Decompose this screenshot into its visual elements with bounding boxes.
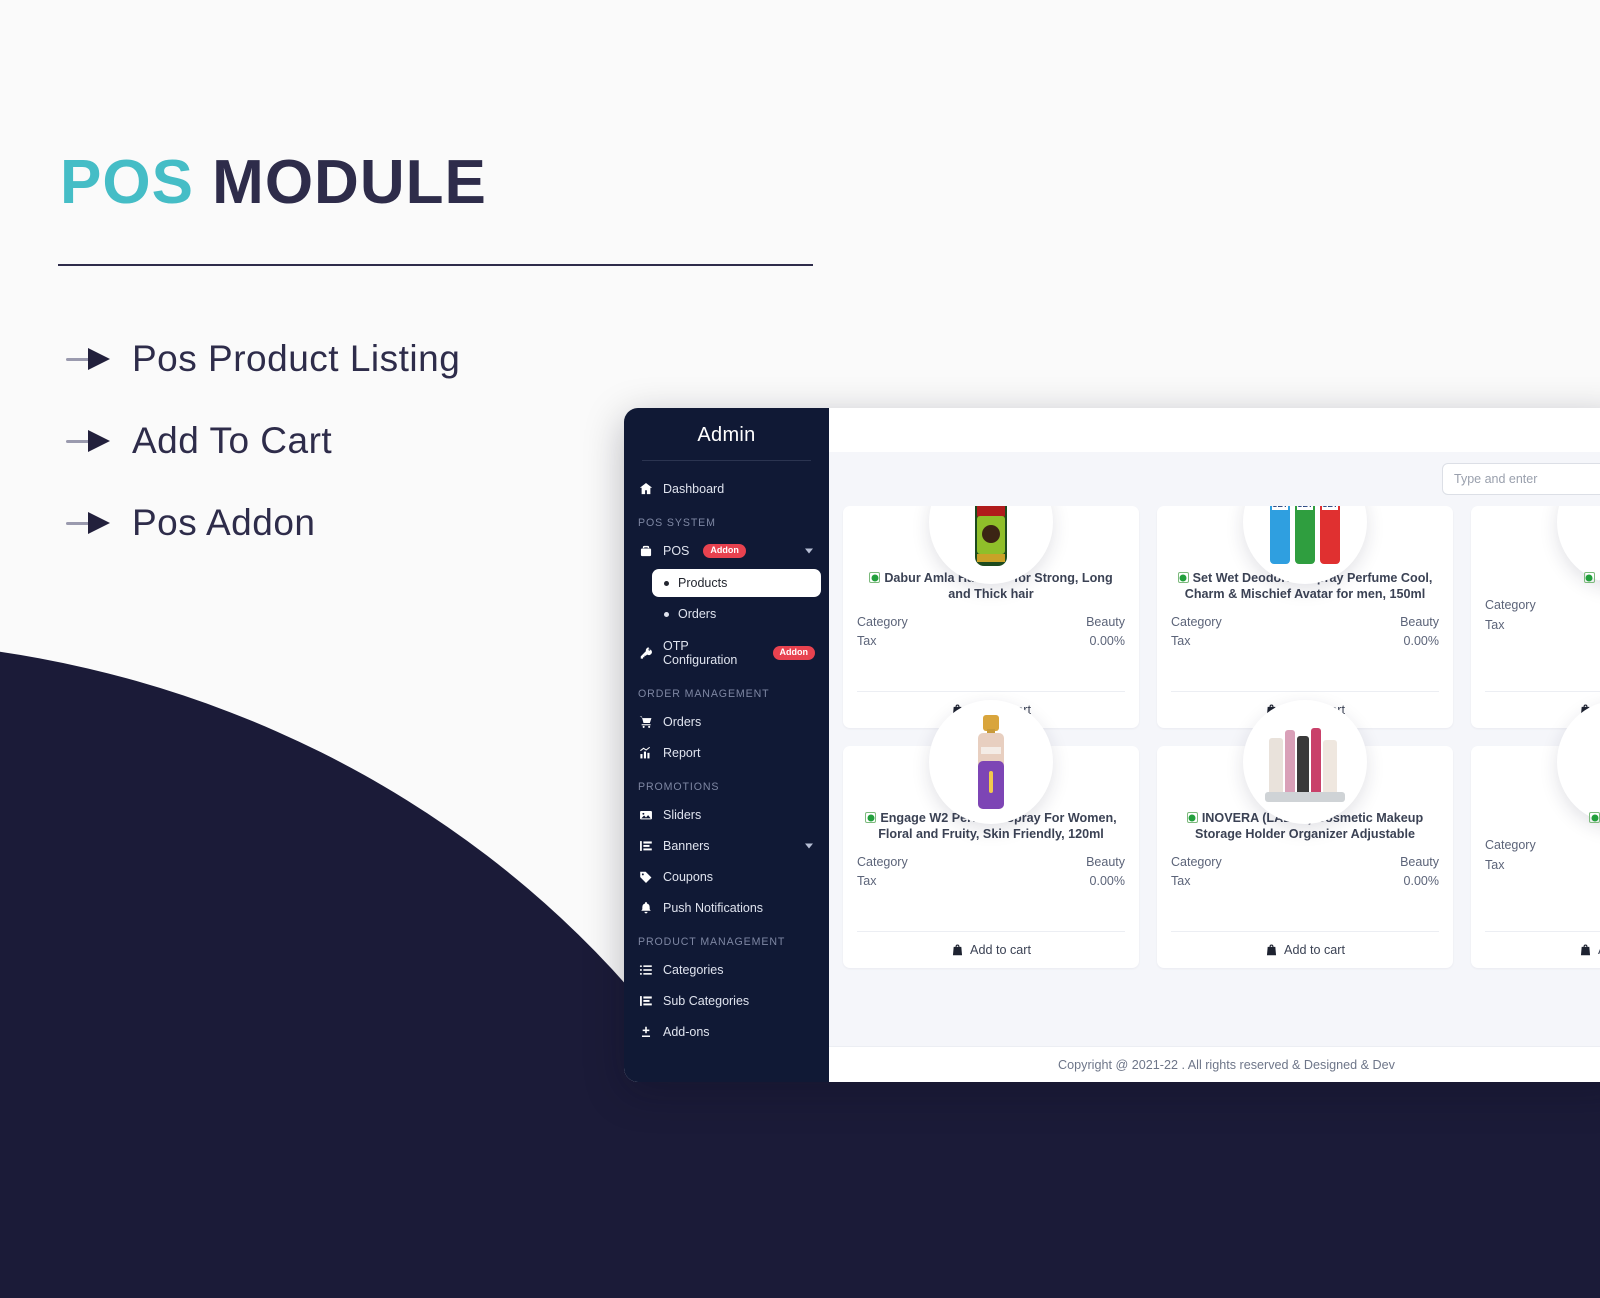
chevron-down-icon[interactable] <box>805 548 813 553</box>
bullet-dot-icon <box>664 612 669 617</box>
sidebar-item-label: OTP Configuration <box>663 639 759 667</box>
feature-label: Add To Cart <box>132 420 332 462</box>
tax-label: Tax <box>1171 872 1190 891</box>
product-category-row: Category Beauty <box>857 613 1125 632</box>
svg-text:SET: SET <box>1272 506 1288 509</box>
product-card[interactable]: Secret Te Category Tax Add to cart <box>1471 506 1600 728</box>
sidebar-item-label: Sub Categories <box>663 994 749 1008</box>
home-icon <box>638 482 654 496</box>
sidebar-item-categories[interactable]: Categories <box>624 954 829 985</box>
bell-icon <box>638 901 654 915</box>
plus-minus-icon <box>638 1025 654 1039</box>
category-value: Beauty <box>1086 853 1125 872</box>
tax-label: Tax <box>1485 616 1504 635</box>
app-window: Admin Dashboard POS SYSTEM POS Addon <box>624 408 1600 1082</box>
sidebar-item-dashboard[interactable]: Dashboard <box>624 473 829 504</box>
product-thumbnail <box>1243 700 1367 824</box>
sidebar-section-title: ORDER MANAGEMENT <box>624 675 829 706</box>
product-tax-row: Tax <box>1485 616 1600 635</box>
tax-label: Tax <box>1485 856 1504 875</box>
product-grid: Dabur Amla Hair Oil - for Strong, Long a… <box>843 506 1600 968</box>
product-card[interactable]: Dabur Amla Hair Oil - for Strong, Long a… <box>843 506 1139 728</box>
veg-indicator-icon <box>1187 812 1198 823</box>
bag-icon <box>951 944 964 957</box>
feature-label: Pos Addon <box>132 502 315 544</box>
category-label: Category <box>1485 836 1536 855</box>
title-divider <box>58 264 813 266</box>
sidebar-item-label: Coupons <box>663 870 713 884</box>
sidebar-item-sub-categories[interactable]: Sub Categories <box>624 985 829 1016</box>
add-to-cart-button[interactable]: Add to cart <box>857 931 1125 968</box>
makeup-organizer-icon <box>1259 716 1351 808</box>
chart-icon <box>638 746 654 760</box>
chevron-down-icon[interactable] <box>805 843 813 848</box>
sidebar-subitem-label: Products <box>678 576 727 590</box>
sidebar-item-coupons[interactable]: Coupons <box>624 861 829 892</box>
tax-value: 0.00% <box>1090 632 1125 651</box>
svg-text:SET: SET <box>1322 506 1338 509</box>
sidebar-section-title: PRODUCT MANAGEMENT <box>624 923 829 954</box>
sidebar-item-banners[interactable]: Banners <box>624 830 829 861</box>
product-tax-row: Tax <box>1485 856 1600 875</box>
list-icon <box>638 994 654 1008</box>
veg-indicator-icon <box>1178 572 1189 583</box>
bag-icon <box>1579 944 1592 957</box>
tax-value: 0.00% <box>1404 632 1439 651</box>
sidebar-item-label: Orders <box>663 715 701 729</box>
product-category-row: Category Beauty <box>857 853 1125 872</box>
page-root: POS MODULE Pos Product Listing Add To Ca… <box>0 0 1600 1298</box>
category-label: Category <box>857 613 908 632</box>
category-label: Category <box>1171 613 1222 632</box>
product-card[interactable]: SET SET SET <box>1157 506 1453 728</box>
product-tax-row: Tax 0.00% <box>857 632 1125 651</box>
footer: Copyright @ 2021-22 . All rights reserve… <box>829 1046 1600 1082</box>
tag-icon <box>638 870 654 884</box>
product-tax-row: Tax 0.00% <box>1171 872 1439 891</box>
sidebar-item-otp-configuration[interactable]: OTP Configuration Addon <box>624 631 829 675</box>
arrow-right-icon <box>60 348 120 370</box>
bullet-dot-icon <box>664 581 669 586</box>
sidebar-subitem-orders[interactable]: Orders <box>652 600 821 628</box>
tax-value: 0.00% <box>1090 872 1125 891</box>
svg-text:SET: SET <box>1297 506 1313 509</box>
arrow-right-icon <box>60 512 120 534</box>
sidebar-subitem-label: Orders <box>678 607 716 621</box>
copyright-text: Copyright @ 2021-22 . All rights reserve… <box>1058 1058 1395 1072</box>
add-to-cart-label: Add to cart <box>970 943 1031 957</box>
sidebar-item-label: Categories <box>663 963 723 977</box>
content-area: Dabur Amla Hair Oil - for Strong, Long a… <box>829 408 1600 1082</box>
perfume-spray-icon <box>969 713 1013 811</box>
veg-indicator-icon <box>869 572 880 583</box>
sidebar-item-label: Report <box>663 746 701 760</box>
deodorant-cans-icon: SET SET SET <box>1264 506 1346 570</box>
product-category-row: Category <box>1485 836 1600 855</box>
tax-label: Tax <box>857 632 876 651</box>
page-title-accent: POS <box>60 148 194 217</box>
add-to-cart-button[interactable]: Add to cart <box>1171 931 1439 968</box>
decorative-navy-band <box>0 1080 1600 1298</box>
tax-label: Tax <box>1171 632 1190 651</box>
feature-label: Pos Product Listing <box>132 338 460 380</box>
sidebar-item-orders[interactable]: Orders <box>624 706 829 737</box>
hair-oil-bottle-icon <box>963 506 1019 570</box>
list-icon <box>638 839 654 853</box>
cart-icon <box>638 715 654 729</box>
sidebar-item-label: Push Notifications <box>663 901 763 915</box>
product-category-row: Category Beauty <box>1171 853 1439 872</box>
product-card[interactable]: INOVERA (LABEL) Cosmetic Makeup Storage … <box>1157 746 1453 968</box>
sidebar-section-title: POS SYSTEM <box>624 504 829 535</box>
sidebar-item-sliders[interactable]: Sliders <box>624 799 829 830</box>
product-thumbnail <box>929 700 1053 824</box>
product-card[interactable]: Engage W2 Perfume Spray For Women, Flora… <box>843 746 1139 968</box>
search-input[interactable] <box>1442 463 1600 495</box>
sidebar-item-label: Sliders <box>663 808 701 822</box>
status-badge: Addon <box>773 646 816 660</box>
secret-temptation-bottle-icon <box>1594 506 1600 568</box>
feature-list: Pos Product Listing Add To Cart Pos Addo… <box>60 318 460 564</box>
sidebar-item-pos[interactable]: POS Addon <box>624 535 829 566</box>
veg-indicator-icon <box>1584 572 1595 583</box>
bag-icon <box>1265 944 1278 957</box>
list-item: Add To Cart <box>60 400 460 482</box>
page-title: POS MODULE <box>60 152 487 214</box>
add-to-cart-button[interactable]: Add to cart <box>1485 931 1600 968</box>
veg-indicator-icon <box>865 812 876 823</box>
product-card[interactable]: LAKMÉ Category Tax Add to cart <box>1471 746 1600 968</box>
category-value: Beauty <box>1400 853 1439 872</box>
sidebar-section-title: PROMOTIONS <box>624 768 829 799</box>
sidebar-item-report[interactable]: Report <box>624 737 829 768</box>
product-category-row: Category <box>1485 596 1600 615</box>
search-row <box>829 452 1600 506</box>
category-label: Category <box>1171 853 1222 872</box>
sidebar-item-label: Dashboard <box>663 482 724 496</box>
sidebar-item-label: Add-ons <box>663 1025 710 1039</box>
product-grid-scroll[interactable]: Dabur Amla Hair Oil - for Strong, Long a… <box>829 506 1600 1046</box>
status-badge: Addon <box>703 544 746 558</box>
sidebar-item-label: POS <box>663 544 689 558</box>
sidebar-item-push-notifications[interactable]: Push Notifications <box>624 892 829 923</box>
bullet-list-icon <box>638 963 654 977</box>
category-label: Category <box>1485 596 1536 615</box>
key-icon <box>638 646 654 660</box>
add-to-cart-label: Add to cart <box>1284 943 1345 957</box>
product-tax-row: Tax 0.00% <box>857 872 1125 891</box>
veg-indicator-icon <box>1589 812 1600 823</box>
tax-value: 0.00% <box>1404 872 1439 891</box>
sidebar-item-label: Banners <box>663 839 710 853</box>
tax-label: Tax <box>857 872 876 891</box>
category-value: Beauty <box>1400 613 1439 632</box>
sidebar-brand: Admin <box>624 408 829 460</box>
sidebar: Admin Dashboard POS SYSTEM POS Addon <box>624 408 829 1082</box>
top-header-bar <box>829 408 1600 452</box>
category-value: Beauty <box>1086 613 1125 632</box>
sidebar-item-add-ons[interactable]: Add-ons <box>624 1016 829 1047</box>
product-category-row: Category Beauty <box>1171 613 1439 632</box>
list-item: Pos Addon <box>60 482 460 564</box>
briefcase-icon <box>638 544 654 558</box>
product-tax-row: Tax 0.00% <box>1171 632 1439 651</box>
sidebar-subitem-products[interactable]: Products <box>652 569 821 597</box>
category-label: Category <box>857 853 908 872</box>
page-title-rest: MODULE <box>212 148 487 217</box>
arrow-right-icon <box>60 430 120 452</box>
image-icon <box>638 808 654 822</box>
sidebar-divider <box>642 460 811 461</box>
list-item: Pos Product Listing <box>60 318 460 400</box>
